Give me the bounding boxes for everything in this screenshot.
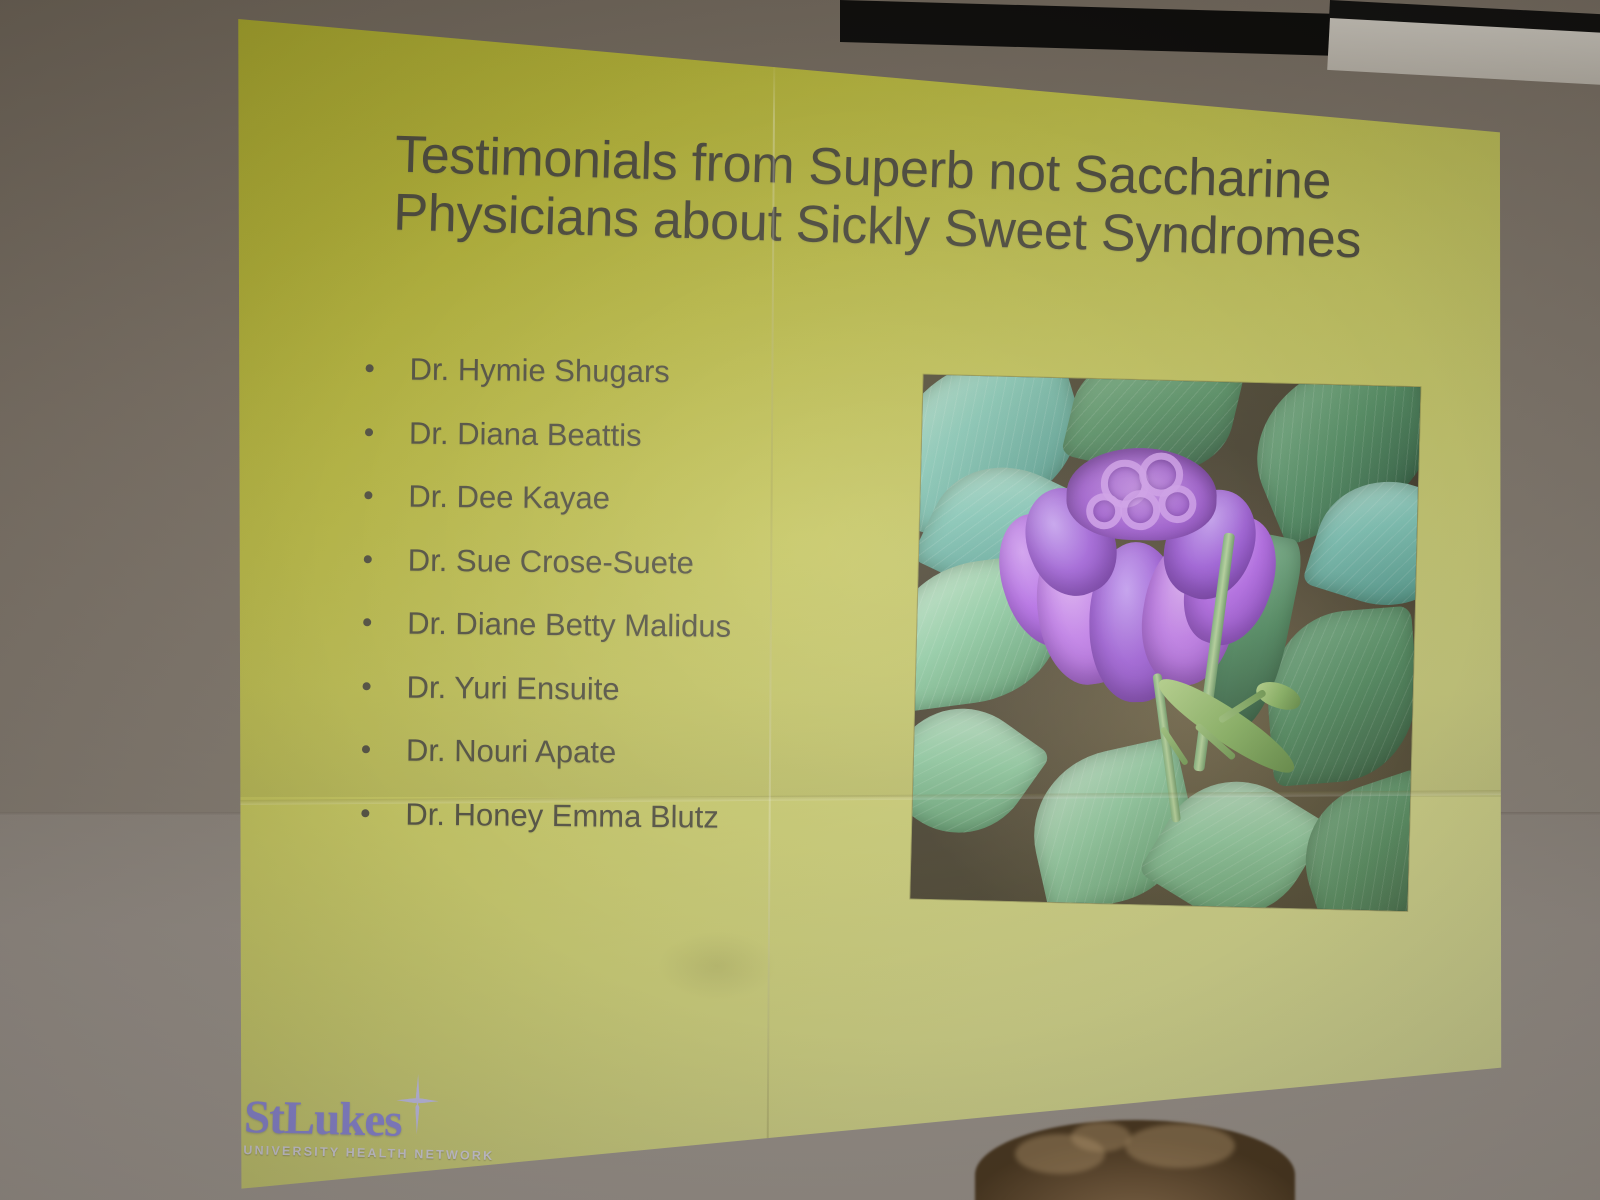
list-item: Dr. Dee Kayae bbox=[350, 480, 890, 516]
dahlia-flower bbox=[999, 439, 1273, 706]
bullet-dot-icon bbox=[364, 491, 372, 499]
physician-name-list: Dr. Hymie Shugars Dr. Diana Beattis Dr. … bbox=[347, 353, 892, 866]
logo-word-luke: Luke bbox=[283, 1092, 385, 1146]
slide-title: Testimonials from Superb not Saccharine … bbox=[393, 126, 1406, 272]
bullet-dot-icon bbox=[363, 618, 371, 626]
slide-content: Testimonials from Superb not Saccharine … bbox=[237, 16, 1505, 1191]
list-item: Dr. Hymie Shugars bbox=[351, 353, 891, 389]
bullet-dot-icon bbox=[362, 745, 370, 753]
list-item-label: Dr. Nouri Apate bbox=[406, 733, 617, 770]
purple-dahlia-flower-photo bbox=[910, 375, 1420, 911]
list-item: Dr. Diana Beattis bbox=[351, 417, 891, 453]
projection-screen: Testimonials from Superb not Saccharine … bbox=[237, 16, 1505, 1191]
slide-number: 2 bbox=[1433, 1079, 1443, 1099]
list-item-label: Dr. Diane Betty Malidus bbox=[407, 606, 731, 644]
bullet-dot-icon bbox=[364, 555, 372, 563]
list-item-label: Dr. Hymie Shugars bbox=[409, 352, 669, 389]
list-item: Dr. Yuri Ensuite bbox=[348, 671, 888, 707]
list-item-label: Dr. Sue Crose-Suete bbox=[408, 542, 694, 580]
st-lukes-logo: StLukes UNIVERSITY HEALTH NETWORK bbox=[243, 1094, 495, 1163]
bullet-dot-icon bbox=[365, 428, 373, 436]
list-item-label: Dr. Dee Kayae bbox=[408, 479, 610, 516]
projection-screen-wrap: Testimonials from Superb not Saccharine … bbox=[0, 0, 1600, 1200]
star-cross-icon bbox=[396, 1074, 439, 1135]
bullet-dot-icon bbox=[361, 809, 369, 817]
list-item: Dr. Sue Crose-Suete bbox=[350, 544, 890, 580]
bullet-dot-icon bbox=[363, 682, 371, 690]
bullet-dot-icon bbox=[366, 364, 374, 372]
list-item: Dr. Diane Betty Malidus bbox=[349, 607, 889, 643]
list-item-label: Dr. Diana Beattis bbox=[409, 415, 642, 452]
presentation-room-photo: Testimonials from Superb not Saccharine … bbox=[0, 0, 1600, 1200]
screen-smudge bbox=[657, 931, 777, 1001]
list-item: Dr. Nouri Apate bbox=[348, 734, 888, 770]
list-item-label: Dr. Yuri Ensuite bbox=[406, 669, 619, 706]
logo-word-st: St bbox=[243, 1091, 284, 1144]
logo-wordmark: StLukes bbox=[244, 1094, 496, 1147]
